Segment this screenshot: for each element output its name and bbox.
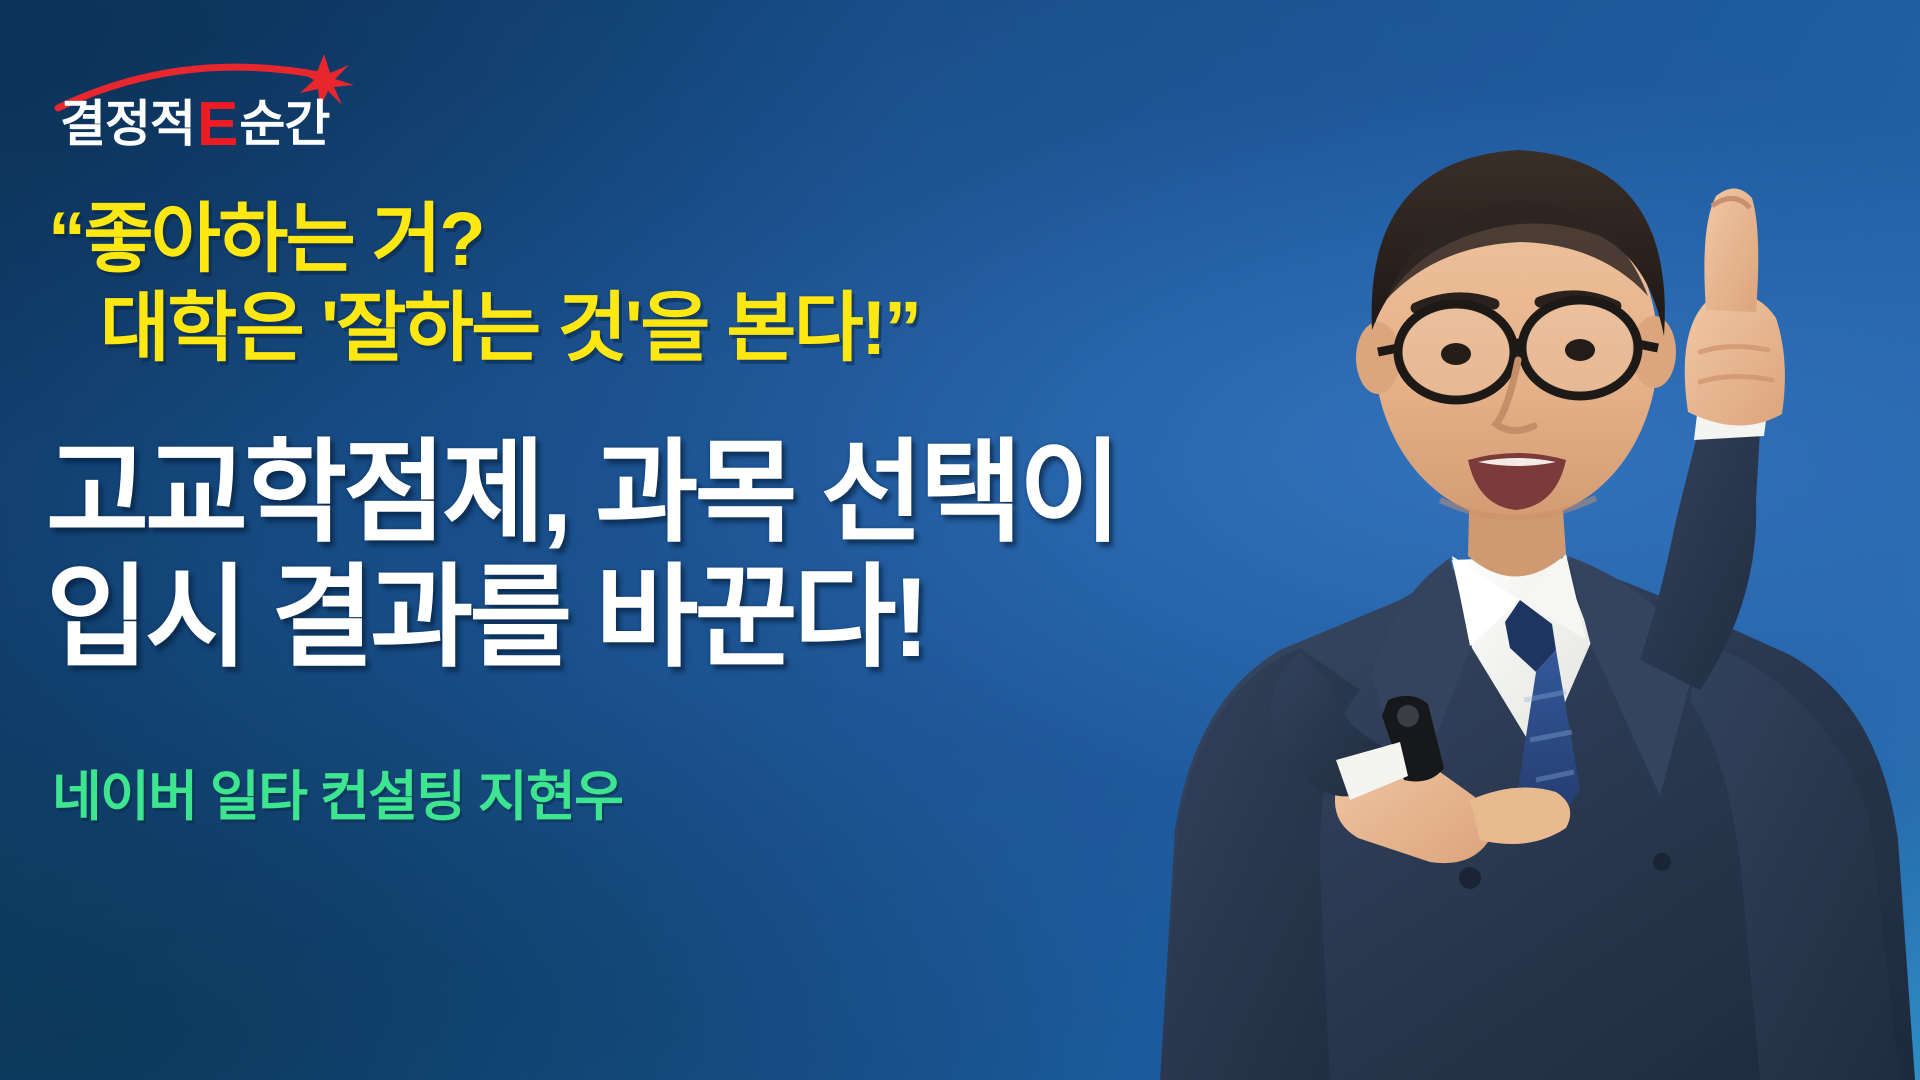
- quote-line-2: 대학은 '잘하는 것'을 본다!”: [48, 285, 920, 374]
- logo-text-after: 순간: [239, 96, 329, 152]
- headline-block: 고교학점제, 과목 선택이 입시 결과를 바꾼다!: [46, 430, 1118, 681]
- logo-text-before: 결정적: [60, 96, 195, 152]
- quote-line-1: “좋아하는 거?: [48, 197, 483, 282]
- headline-line-1: 고교학점제, 과목 선택이: [46, 430, 1118, 555]
- logo-wordmark: 결정적E순간: [60, 94, 329, 156]
- presenter-byline: 네이버 일타 컨설팅 지현우: [52, 752, 623, 831]
- headline-line-2: 입시 결과를 바꾼다!: [46, 555, 1118, 680]
- brand-logo: 결정적E순간: [52, 52, 382, 162]
- presenter-photo: [1000, 0, 1920, 1080]
- logo-letter-e: E: [195, 90, 239, 159]
- thumbnail-canvas: 결정적E순간 “좋아하는 거? 대학은 '잘하는 것'을 본다!” 고교학점제,…: [0, 0, 1920, 1080]
- quote-block: “좋아하는 거? 대학은 '잘하는 것'을 본다!”: [48, 196, 920, 374]
